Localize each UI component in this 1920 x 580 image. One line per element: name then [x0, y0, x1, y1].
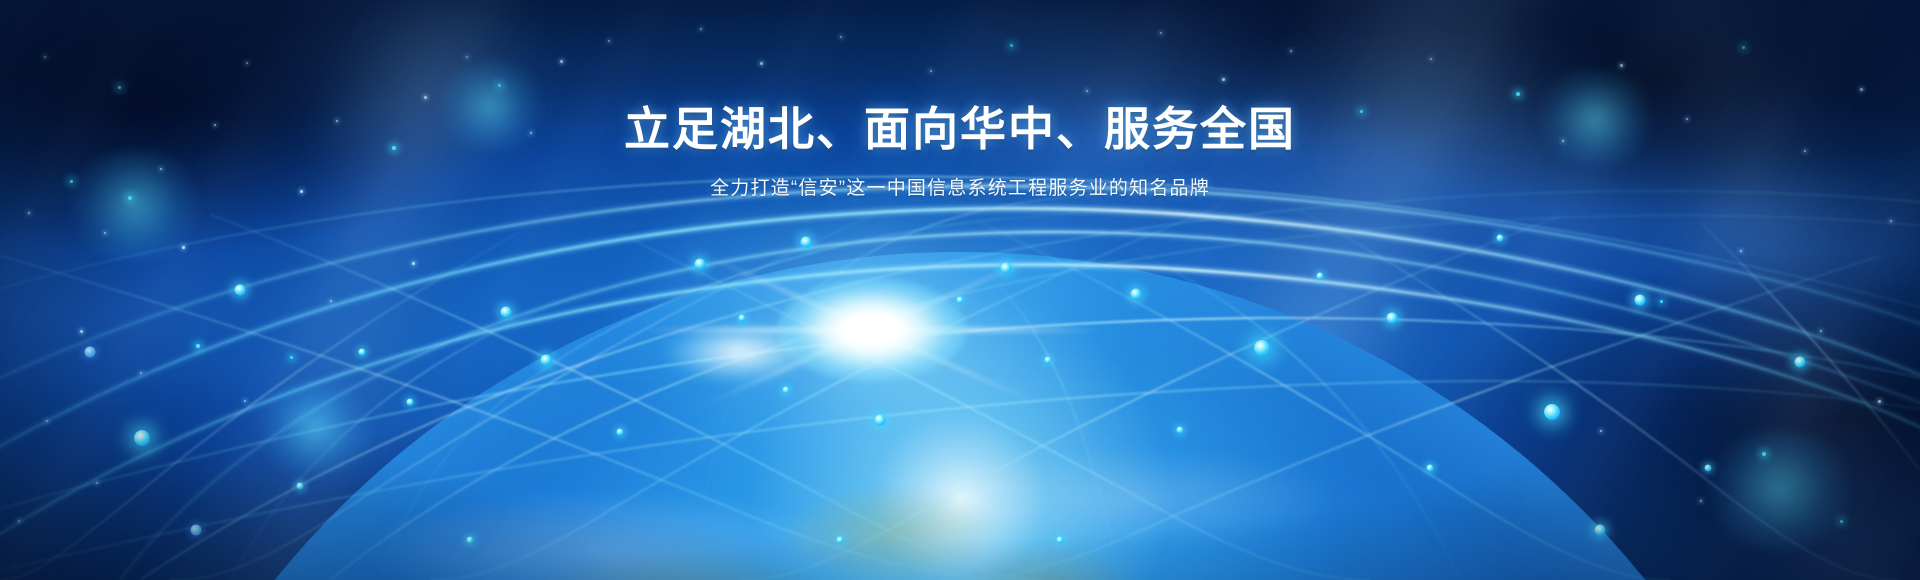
- network-node: [297, 483, 304, 490]
- network-node: [1595, 525, 1606, 536]
- network-node: [1177, 427, 1184, 434]
- network-node: [617, 429, 624, 436]
- hero-banner: 立足湖北、面向华中、服务全国 全力打造“信安”这一中国信息系统工程服务业的知名品…: [0, 0, 1920, 580]
- network-node: [1317, 273, 1324, 280]
- network-node: [1387, 313, 1398, 324]
- network-node: [1705, 465, 1712, 472]
- network-node: [875, 415, 886, 426]
- network-node: [801, 237, 812, 248]
- network-node: [1001, 263, 1012, 274]
- network-node: [1254, 340, 1270, 356]
- network-node: [957, 297, 964, 304]
- network-node: [1057, 537, 1064, 544]
- network-node: [783, 387, 790, 394]
- network-node: [1497, 235, 1504, 242]
- network-node: [1045, 357, 1052, 364]
- network-node: [541, 355, 552, 366]
- banner-headline: 立足湖北、面向华中、服务全国: [0, 104, 1920, 156]
- network-node: [467, 537, 474, 544]
- network-node: [1544, 404, 1560, 420]
- network-node: [1795, 357, 1806, 368]
- network-node: [837, 537, 844, 544]
- network-node: [1427, 465, 1434, 472]
- secondary-light-burst: [665, 322, 815, 382]
- network-node: [1131, 289, 1142, 300]
- network-node: [739, 315, 746, 322]
- network-node: [501, 307, 512, 318]
- network-node: [85, 347, 96, 358]
- network-node: [235, 285, 246, 296]
- network-node: [407, 399, 414, 406]
- network-node: [134, 430, 150, 446]
- network-node: [695, 259, 706, 270]
- banner-copy: 立足湖北、面向华中、服务全国 全力打造“信安”这一中国信息系统工程服务业的知名品…: [0, 104, 1920, 202]
- banner-subline: 全力打造“信安”这一中国信息系统工程服务业的知名品牌: [0, 176, 1920, 203]
- network-node: [359, 349, 366, 356]
- network-node: [191, 525, 202, 536]
- network-node: [1635, 295, 1646, 306]
